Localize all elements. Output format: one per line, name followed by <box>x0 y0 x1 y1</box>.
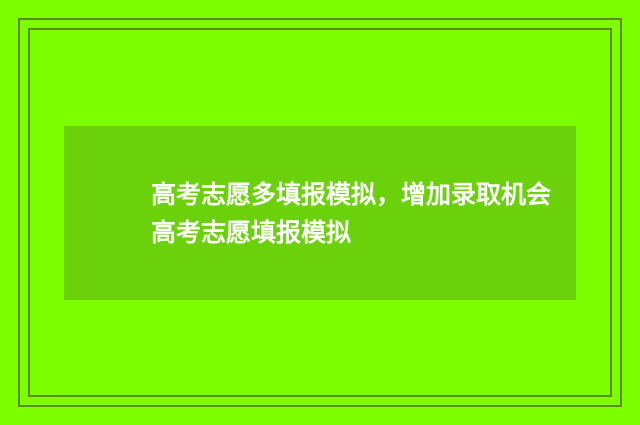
headline-text: 高考志愿多填报模拟，增加录取机会 高考志愿填报模拟 <box>151 176 551 252</box>
headline-panel: 高考志愿多填报模拟，增加录取机会 高考志愿填报模拟 <box>64 126 576 300</box>
banner-canvas: 高考志愿多填报模拟，增加录取机会 高考志愿填报模拟 <box>0 0 640 425</box>
